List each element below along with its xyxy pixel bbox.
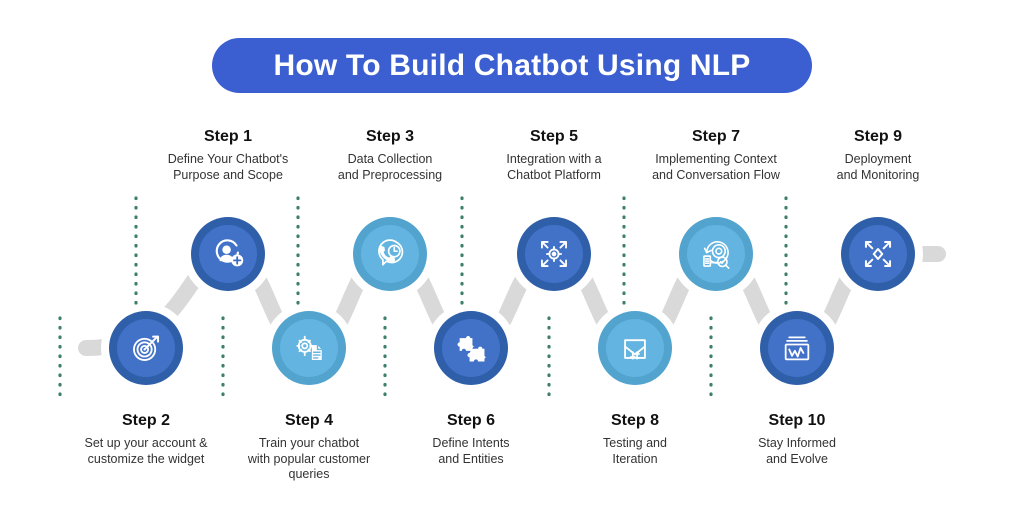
step-label-6: Step 6Define Intentsand Entities bbox=[376, 412, 566, 467]
step-title-10: Step 10 bbox=[702, 412, 892, 430]
step-desc-line: queries bbox=[214, 467, 404, 483]
step-title-6: Step 6 bbox=[376, 412, 566, 430]
step-desc-line: Define Intents bbox=[376, 436, 566, 452]
step-desc-line: Deployment bbox=[783, 152, 973, 168]
step-node-5[interactable] bbox=[517, 217, 591, 291]
step-node-7[interactable] bbox=[679, 217, 753, 291]
step-desc-line: and Entities bbox=[376, 452, 566, 468]
gear-document-icon bbox=[280, 319, 338, 377]
gear-cycle-search-icon bbox=[687, 225, 745, 283]
step-desc-line: and Monitoring bbox=[783, 168, 973, 184]
step-label-9: Step 9Deploymentand Monitoring bbox=[783, 128, 973, 183]
step-node-1[interactable] bbox=[191, 217, 265, 291]
step-desc-6: Define Intentsand Entities bbox=[376, 436, 566, 467]
step-node-4[interactable] bbox=[272, 311, 346, 385]
step-node-6[interactable] bbox=[434, 311, 508, 385]
step-node-2[interactable] bbox=[109, 311, 183, 385]
step-label-2: Step 2Set up your account &customize the… bbox=[51, 412, 241, 467]
step-title-9: Step 9 bbox=[783, 128, 973, 146]
target-arrow-icon bbox=[117, 319, 175, 377]
step-title-3: Step 3 bbox=[295, 128, 485, 146]
deploy-expand-icon bbox=[849, 225, 907, 283]
step-desc-line: Stay Informed bbox=[702, 436, 892, 452]
step-desc-10: Stay Informedand Evolve bbox=[702, 436, 892, 467]
step-desc-line: Data Collection bbox=[295, 152, 485, 168]
step-desc-3: Data Collectionand Preprocessing bbox=[295, 152, 485, 183]
step-desc-line: customize the widget bbox=[51, 452, 241, 468]
step-node-8[interactable] bbox=[598, 311, 672, 385]
puzzle-pieces-icon bbox=[442, 319, 500, 377]
step-desc-line: and Evolve bbox=[702, 452, 892, 468]
step-desc-2: Set up your account &customize the widge… bbox=[51, 436, 241, 467]
step-desc-line: and Preprocessing bbox=[295, 168, 485, 184]
step-desc-line: Set up your account & bbox=[51, 436, 241, 452]
window-chart-icon bbox=[768, 319, 826, 377]
step-node-9[interactable] bbox=[841, 217, 915, 291]
step-title-2: Step 2 bbox=[51, 412, 241, 430]
step-node-10[interactable] bbox=[760, 311, 834, 385]
step-node-3[interactable] bbox=[353, 217, 427, 291]
step-label-10: Step 10Stay Informedand Evolve bbox=[702, 412, 892, 467]
step-label-3: Step 3Data Collectionand Preprocessing bbox=[295, 128, 485, 183]
step-desc-9: Deploymentand Monitoring bbox=[783, 152, 973, 183]
user-add-icon bbox=[199, 225, 257, 283]
target-converge-icon bbox=[525, 225, 583, 283]
envelope-transfer-icon bbox=[606, 319, 664, 377]
infographic-canvas: How To Build Chatbot Using NLP Step 1Def… bbox=[0, 0, 1024, 520]
phone-clock-chat-icon bbox=[361, 225, 419, 283]
